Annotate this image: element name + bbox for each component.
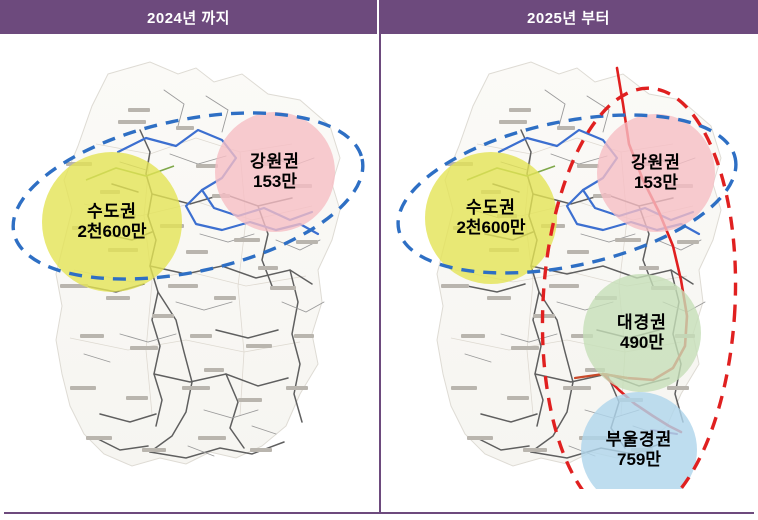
korea-rail-map-right: [381, 34, 758, 489]
region-name: 강원권: [250, 152, 300, 172]
region-name: 부울경권: [606, 430, 673, 450]
region-name: 강원권: [631, 153, 681, 173]
panel-before-2025: 수도권 2천600만 강원권 153만: [0, 34, 379, 512]
region-population: 153만: [253, 172, 297, 192]
region-name: 수도권: [466, 198, 516, 218]
header-bar: 2024년 까지 2025년 부터: [0, 0, 758, 34]
region-population: 153만: [634, 173, 678, 193]
header-left-title: 2024년 까지: [0, 0, 379, 34]
region-bubble-gangwongwon[interactable]: 강원권 153만: [597, 114, 715, 232]
region-name: 대경권: [617, 313, 667, 333]
region-bubble-sudogwon[interactable]: 수도권 2천600만: [425, 152, 557, 284]
region-bubble-sudogwon[interactable]: 수도권 2천600만: [42, 152, 182, 292]
panel-from-2025: 수도권 2천600만 강원권 153만 대경권 490만 부울경권 759만: [379, 34, 758, 512]
map-area-right: 수도권 2천600만 강원권 153만 대경권 490만 부울경권 759만: [381, 34, 758, 489]
bottom-divider: [4, 512, 754, 514]
header-right-title: 2025년 부터: [379, 0, 758, 34]
region-population: 490만: [620, 333, 664, 353]
region-population: 2천600만: [77, 222, 146, 242]
region-bubble-daegyeonggwon[interactable]: 대경권 490만: [583, 274, 701, 392]
region-population: 2천600만: [456, 218, 525, 238]
region-population: 759만: [617, 450, 661, 470]
region-name: 수도권: [87, 202, 137, 222]
map-area-left: 수도권 2천600만 강원권 153만: [0, 34, 379, 489]
region-bubble-gangwongwon[interactable]: 강원권 153만: [215, 112, 335, 232]
comparison-panels: 수도권 2천600만 강원권 153만: [0, 34, 758, 512]
